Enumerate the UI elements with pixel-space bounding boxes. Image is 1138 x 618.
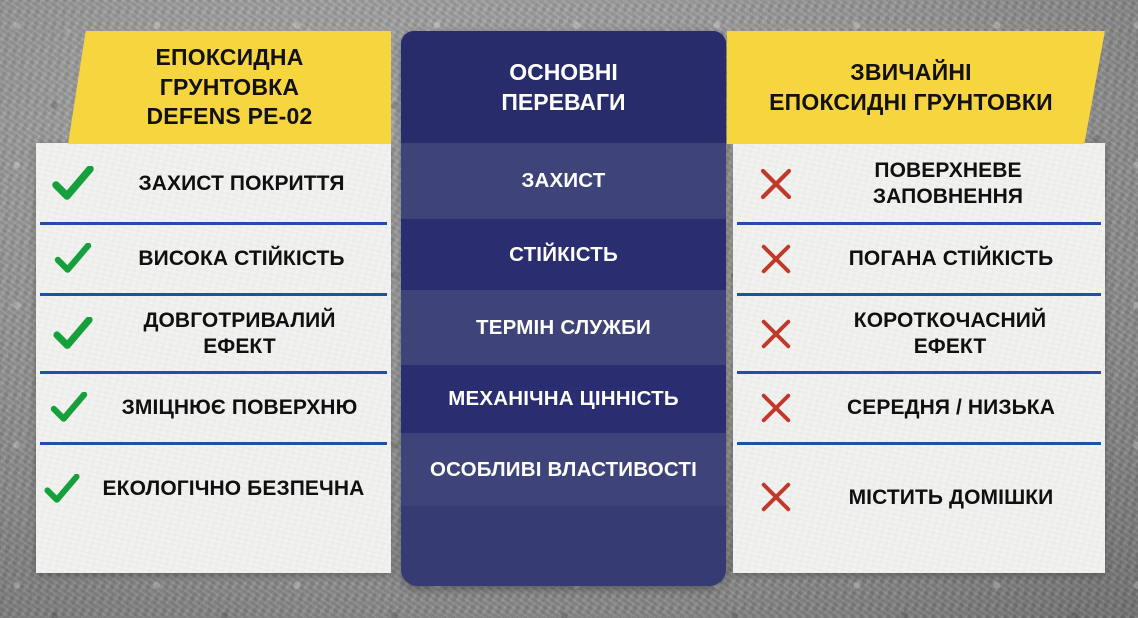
- center-row-5: ОСОБЛИВІ ВЛАСТИВОСТІ: [401, 433, 726, 506]
- center-row-2: СТІЙКІСТЬ: [401, 219, 726, 290]
- right-row-1-line-2: ЗАПОВНЕННЯ: [873, 184, 1023, 210]
- right-row-5-text: МІСТИТЬ ДОМІШКИ: [815, 467, 1101, 511]
- check-icon: [40, 474, 84, 505]
- center-column-footer-spacer: [401, 506, 726, 586]
- left-header-line-3: DEFENS PE-02: [146, 102, 312, 132]
- cross-icon: [737, 242, 815, 276]
- right-row-3: КОРОТКОЧАСНИЙ ЕФЕКТ: [737, 296, 1101, 371]
- right-row-3-line-2: ЕФЕКТ: [914, 334, 987, 360]
- left-row-2-line-1: ВИСОКА СТІЙКІСТЬ: [138, 246, 344, 272]
- right-row-4-text: СЕРЕДНЯ / НИЗЬКА: [815, 395, 1101, 421]
- check-icon: [40, 166, 106, 202]
- left-header-text: ЕПОКСИДНА ГРУНТОВКА DEFENS PE-02: [68, 31, 391, 144]
- cross-icon: [737, 317, 815, 351]
- right-row-3-line-1: КОРОТКОЧАСНИЙ: [854, 308, 1046, 334]
- cross-icon: [737, 464, 815, 514]
- right-row-3-text: КОРОТКОЧАСНИЙ ЕФЕКТ: [815, 308, 1101, 359]
- left-header-line-2: ГРУНТОВКА: [160, 73, 299, 103]
- right-row-1: ПОВЕРХНЕВЕ ЗАПОВНЕННЯ: [737, 146, 1101, 222]
- center-row-5-label: ОСОБЛИВІ ВЛАСТИВОСТІ: [430, 458, 697, 482]
- left-row-3: ДОВГОТРИВАЛИЙ ЕФЕКТ: [40, 296, 387, 371]
- left-row-5-text: ЕКОЛОГІЧНО БЕЗПЕЧНА: [84, 476, 387, 502]
- right-row-2: ПОГАНА СТІЙКІСТЬ: [737, 225, 1101, 293]
- left-row-1-line-1: ЗАХИСТ ПОКРИТТЯ: [138, 171, 344, 197]
- right-row-5: МІСТИТЬ ДОМІШКИ: [737, 445, 1101, 533]
- check-icon: [40, 317, 106, 351]
- left-header-line-1: ЕПОКСИДНА: [155, 43, 303, 73]
- center-row-2-label: СТІЙКІСТЬ: [509, 243, 618, 267]
- center-row-3: ТЕРМІН СЛУЖБИ: [401, 290, 726, 365]
- center-row-1-label: ЗАХИСТ: [521, 169, 605, 193]
- right-row-2-line-1: ПОГАНА СТІЙКІСТЬ: [849, 246, 1054, 272]
- center-column: ОСНОВНІ ПЕРЕВАГИ ЗАХИСТ СТІЙКІСТЬ ТЕРМІН…: [401, 31, 726, 586]
- center-header-line-1: ОСНОВНІ: [509, 57, 618, 87]
- right-header-line-1: ЗВИЧАЙНІ: [850, 58, 971, 88]
- right-row-5-line-1: МІСТИТЬ ДОМІШКИ: [849, 485, 1054, 511]
- left-row-1-text: ЗАХИСТ ПОКРИТТЯ: [106, 171, 387, 197]
- right-row-2-text: ПОГАНА СТІЙКІСТЬ: [815, 246, 1101, 272]
- right-header-line-2: ЕПОКСИДНІ ГРУНТОВКИ: [769, 88, 1053, 118]
- check-icon: [40, 392, 98, 424]
- right-header-text: ЗВИЧАЙНІ ЕПОКСИДНІ ГРУНТОВКИ: [727, 31, 1105, 144]
- center-header-line-2: ПЕРЕВАГИ: [501, 87, 625, 117]
- right-column-header: ЗВИЧАЙНІ ЕПОКСИДНІ ГРУНТОВКИ: [727, 31, 1105, 144]
- left-row-4-text: ЗМІЦНЮЄ ПОВЕРХНЮ: [98, 395, 387, 421]
- left-row-4: ЗМІЦНЮЄ ПОВЕРХНЮ: [40, 374, 387, 442]
- cross-icon: [737, 166, 815, 202]
- center-row-1: ЗАХИСТ: [401, 143, 726, 219]
- right-row-4-line-1: СЕРЕДНЯ / НИЗЬКА: [847, 395, 1055, 421]
- comparison-infographic: ЕПОКСИДНА ГРУНТОВКА DEFENS PE-02 ЗАХИСТ …: [0, 0, 1138, 618]
- left-row-4-line-1: ЗМІЦНЮЄ ПОВЕРХНЮ: [122, 395, 358, 421]
- center-row-3-label: ТЕРМІН СЛУЖБИ: [476, 316, 651, 340]
- left-row-3-line-1: ДОВГОТРИВАЛИЙ: [143, 308, 335, 334]
- left-row-5: ЕКОЛОГІЧНО БЕЗПЕЧНА: [40, 445, 387, 533]
- center-row-4-label: МЕХАНІЧНА ЦІННІСТЬ: [448, 387, 679, 411]
- left-row-2-text: ВИСОКА СТІЙКІСТЬ: [106, 246, 387, 272]
- left-row-2: ВИСОКА СТІЙКІСТЬ: [40, 225, 387, 293]
- left-column-header: ЕПОКСИДНА ГРУНТОВКА DEFENS PE-02: [68, 31, 391, 144]
- left-row-3-text: ДОВГОТРИВАЛИЙ ЕФЕКТ: [106, 308, 387, 359]
- left-row-3-line-2: ЕФЕКТ: [203, 334, 276, 360]
- center-row-4: МЕХАНІЧНА ЦІННІСТЬ: [401, 365, 726, 433]
- left-row-5-line-1: ЕКОЛОГІЧНО БЕЗПЕЧНА: [103, 476, 365, 502]
- cross-icon: [737, 391, 815, 425]
- check-icon: [40, 243, 106, 275]
- right-row-1-line-1: ПОВЕРХНЕВЕ: [874, 158, 1021, 184]
- right-row-4: СЕРЕДНЯ / НИЗЬКА: [737, 374, 1101, 442]
- left-row-1: ЗАХИСТ ПОКРИТТЯ: [40, 146, 387, 222]
- center-column-header: ОСНОВНІ ПЕРЕВАГИ: [401, 31, 726, 143]
- right-row-1-text: ПОВЕРХНЕВЕ ЗАПОВНЕННЯ: [815, 158, 1101, 209]
